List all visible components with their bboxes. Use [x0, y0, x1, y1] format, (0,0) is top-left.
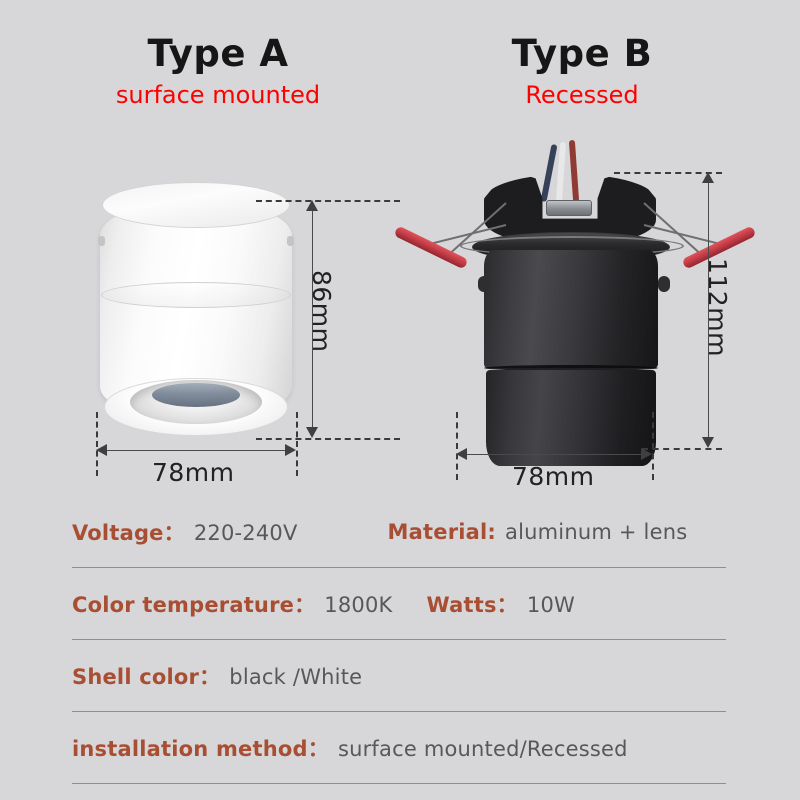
height-arrow-bottom-icon — [702, 437, 714, 448]
type-a-figure: 86mm 78mm — [80, 150, 400, 500]
lamp-lug-left — [478, 276, 490, 292]
spec-key: installation method： — [72, 733, 329, 763]
spec-key: Watts： — [427, 589, 518, 619]
width-dimension-line — [462, 454, 646, 455]
height-arrow-top-icon — [702, 172, 714, 183]
lamp-screw-right-icon — [287, 236, 294, 246]
height-arrow-top-icon — [306, 200, 318, 211]
table-row: Color temperature： 1800K Watts： 10W — [72, 568, 726, 640]
width-arrow-left-icon — [96, 444, 107, 456]
type-a-subtitle: surface mounted — [48, 80, 388, 110]
spec-voltage: Voltage： 220-240V — [72, 517, 298, 547]
table-row: Voltage： 220-240V Material: aluminum + l… — [72, 496, 726, 568]
specification-table: Voltage： 220-240V Material: aluminum + l… — [72, 496, 726, 784]
spec-value: 220-240V — [194, 521, 298, 545]
width-arrow-right-icon — [285, 444, 296, 456]
product-spec-page: Type A surface mounted Type B Recessed 8… — [0, 0, 800, 800]
wire-terminal-block — [546, 200, 592, 216]
spec-value: black /White — [229, 665, 362, 689]
spec-value: surface mounted/Recessed — [338, 737, 628, 761]
type-a-heading: Type A surface mounted — [48, 32, 388, 110]
spec-material: Material: aluminum + lens — [388, 520, 688, 544]
table-row: Shell color： black /White — [72, 640, 726, 712]
lamp-seam-ring — [101, 282, 291, 308]
guide-right-dashed — [652, 412, 654, 480]
type-a-width-label: 78mm — [152, 458, 235, 487]
spec-key: Voltage： — [72, 517, 185, 547]
height-arrow-bottom-icon — [306, 427, 318, 438]
spec-key: Shell color： — [72, 661, 220, 691]
guide-left-dashed — [456, 412, 458, 480]
type-b-subtitle: Recessed — [412, 80, 752, 110]
width-arrow-left-icon — [456, 448, 467, 460]
type-a-height-label: 86mm — [307, 270, 336, 353]
spec-key: Material: — [388, 520, 496, 544]
type-b-heading: Type B Recessed — [412, 32, 752, 110]
lamp-lug-right — [658, 276, 670, 292]
spec-key: Color temperature： — [72, 589, 315, 619]
lamp-top-cap — [102, 182, 290, 228]
table-row: installation method： surface mounted/Rec… — [72, 712, 726, 784]
lamp-can-upper — [484, 250, 658, 368]
wire-blue — [541, 144, 558, 202]
type-b-figure: 112mm 78mm — [420, 140, 760, 500]
width-dimension-line — [102, 450, 290, 451]
guide-bottom-dashed — [642, 448, 722, 450]
guide-top-dashed — [256, 200, 400, 202]
wire-white — [556, 142, 566, 202]
spec-value: 10W — [527, 593, 575, 617]
lamp-screw-left-icon — [98, 236, 105, 246]
guide-bottom-dashed — [256, 438, 400, 440]
type-b-title: Type B — [412, 32, 752, 76]
wire-red — [569, 140, 579, 202]
type-b-width-label: 78mm — [512, 462, 595, 491]
width-arrow-right-icon — [641, 448, 652, 460]
type-a-title: Type A — [48, 32, 388, 76]
spec-value: aluminum + lens — [505, 520, 687, 544]
type-b-height-label: 112mm — [703, 258, 732, 357]
white-surface-mount-lamp-image — [100, 182, 292, 440]
spec-value: 1800K — [324, 593, 392, 617]
spec-color-temperature: Color temperature： 1800K — [72, 589, 393, 619]
spec-installation-method: installation method： surface mounted/Rec… — [72, 733, 628, 763]
spec-shell-color: Shell color： black /White — [72, 661, 362, 691]
guide-right-dashed — [296, 412, 298, 476]
lamp-can-lower — [486, 370, 656, 466]
lamp-lens — [152, 383, 240, 407]
spec-watts: Watts： 10W — [427, 589, 575, 619]
black-recessed-lamp-image — [450, 158, 700, 458]
